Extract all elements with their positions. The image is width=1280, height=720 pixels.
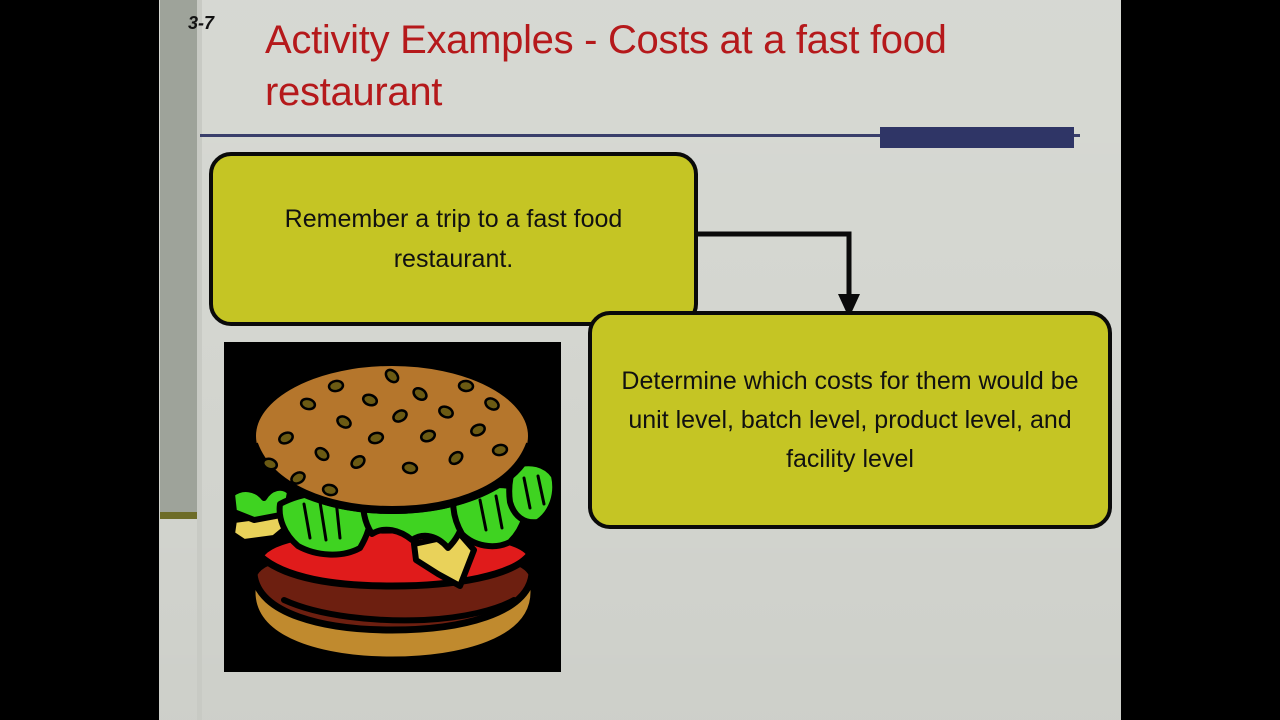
letterbox-bar-left — [0, 0, 159, 720]
hamburger-clipart-icon — [224, 342, 561, 672]
slide-number: 3-7 — [188, 13, 214, 34]
slide-left-band-edge — [160, 512, 197, 519]
slide-title: Activity Examples - Costs at a fast food… — [265, 14, 1085, 118]
title-accent-block — [880, 127, 1074, 148]
callout-box-remember-text: Remember a trip to a fast food restauran… — [213, 199, 694, 279]
slide-left-decorative-band — [160, 0, 197, 512]
callout-box-determine-text: Determine which costs for them would be … — [592, 362, 1108, 479]
hamburger-clipart-frame — [224, 342, 561, 672]
screenshot-stage: 3-7 Activity Examples - Costs at a fast … — [0, 0, 1280, 720]
slide-left-band-inner-stripe — [197, 0, 202, 720]
callout-box-determine: Determine which costs for them would be … — [588, 311, 1112, 529]
letterbox-bar-right — [1121, 0, 1280, 720]
presentation-slide: 3-7 Activity Examples - Costs at a fast … — [159, 0, 1121, 720]
callout-box-remember: Remember a trip to a fast food restauran… — [209, 152, 698, 326]
